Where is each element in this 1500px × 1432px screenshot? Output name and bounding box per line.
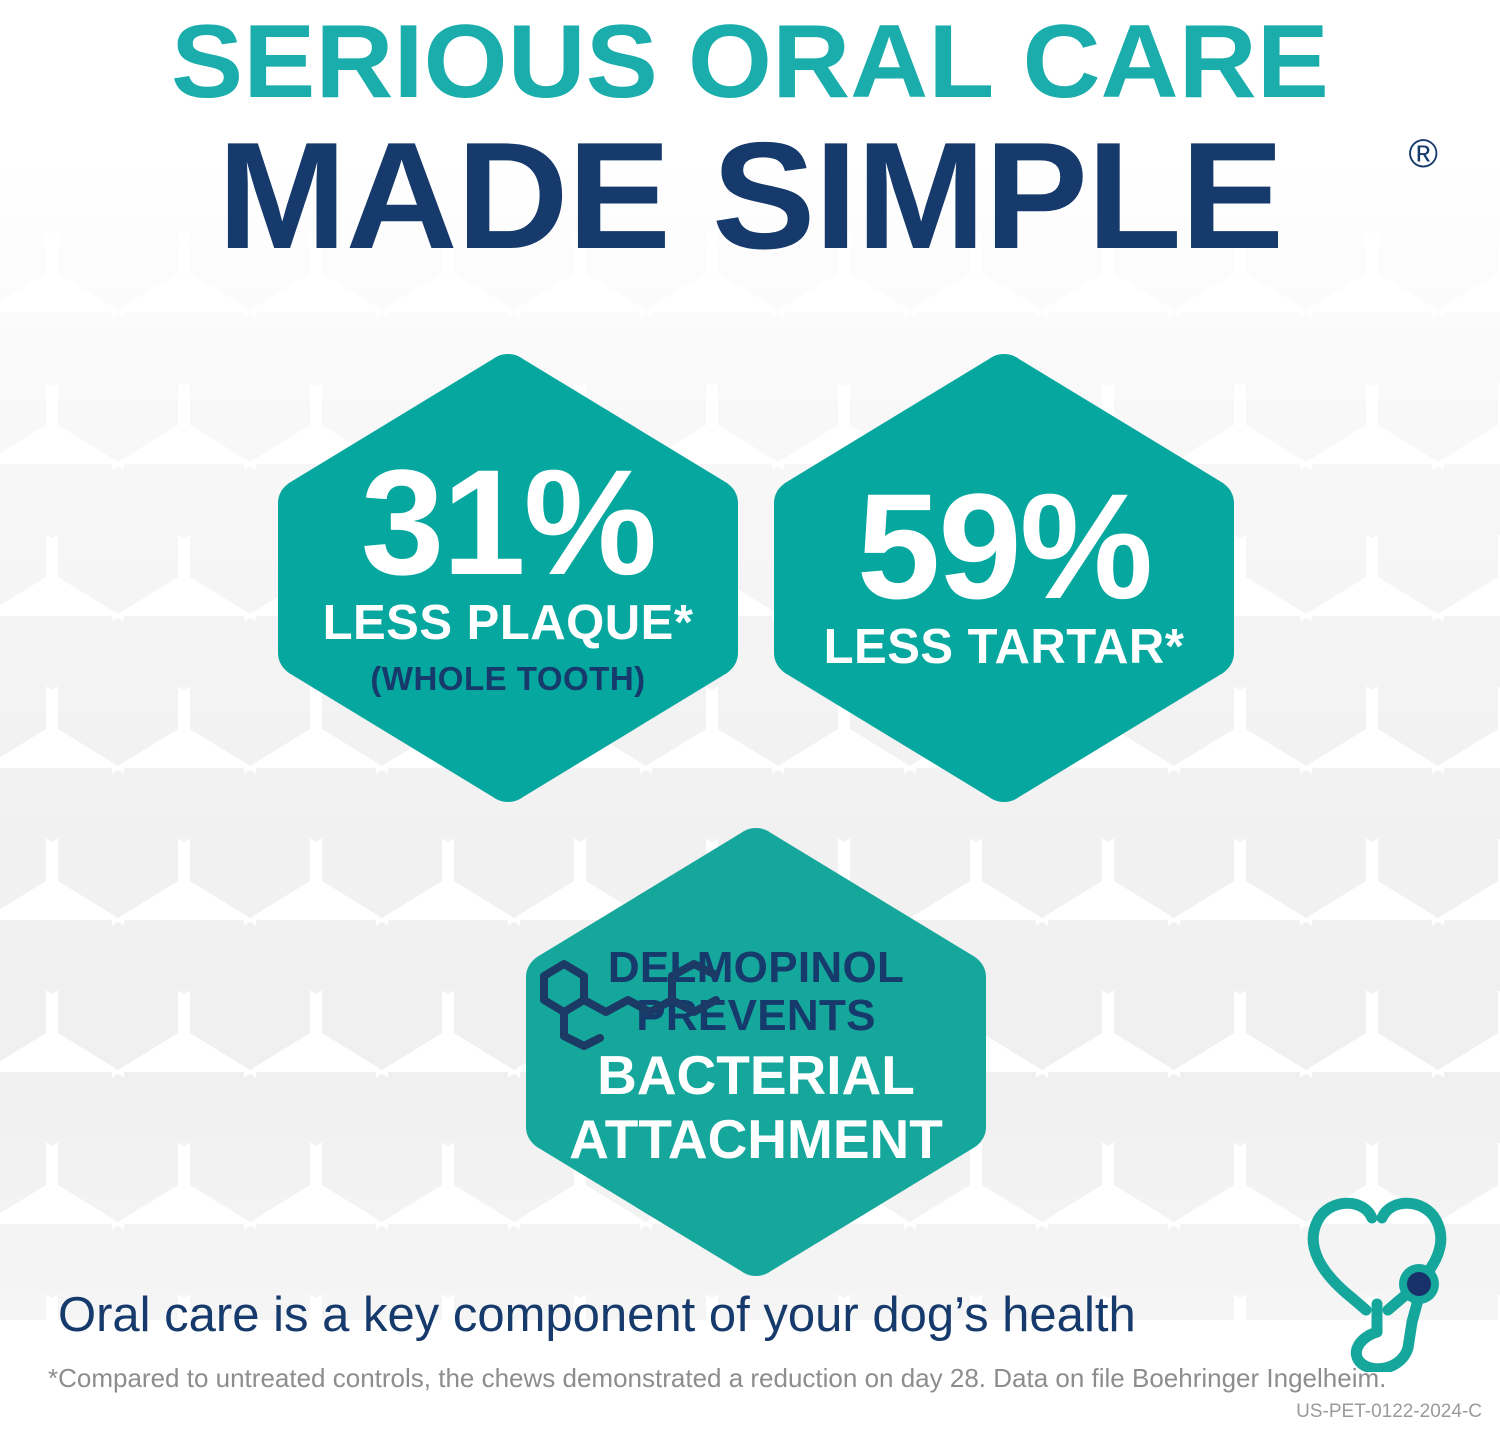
stethoscope-heart-icon [1300,1196,1460,1372]
stat-badge-delmopinol: DELMOPINOL PREVENTS BACTERIAL ATTACHMENT [520,822,992,1282]
delmopinol-molecule-icon [520,950,736,1050]
stat-number: 59% [768,481,1240,611]
headline-line-2: MADE SIMPLE [217,118,1283,274]
oral-care-infographic: SERIOUS ORAL CARE MADE SIMPLE ® 31% LESS… [0,0,1500,1432]
headline-block: SERIOUS ORAL CARE MADE SIMPLE ® [0,0,1500,274]
footer-tagline: Oral care is a key component of your dog… [58,1286,1348,1344]
badge-content: DELMOPINOL PREVENTS BACTERIAL ATTACHMENT [520,936,992,1168]
delmopinol-emph-line-2: ATTACHMENT [520,1110,992,1168]
badge-content: 59% LESS TARTAR* [768,481,1240,675]
stat-sublabel: (WHOLE TOOTH) [272,659,744,699]
stat-label: LESS TARTAR* [768,619,1240,675]
headline-line-2-wrapper: MADE SIMPLE ® [0,118,1500,274]
stat-label: LESS PLAQUE* [272,595,744,651]
delmopinol-emph-line-1: BACTERIAL [520,1046,992,1104]
stat-badge-less-plaque: 31% LESS PLAQUE* (WHOLE TOOTH) [272,348,744,808]
stethoscope-chestpiece-center [1407,1272,1431,1296]
footnote-disclaimer: *Compared to untreated controls, the che… [48,1362,1460,1394]
regulatory-code: US-PET-0122-2024-C [1296,1400,1482,1424]
stat-badge-less-tartar: 59% LESS TARTAR* [768,348,1240,808]
headline-line-1: SERIOUS ORAL CARE [0,6,1500,118]
stat-number: 31% [272,457,744,587]
registered-trademark-icon: ® [1409,132,1438,177]
badge-content: 31% LESS PLAQUE* (WHOLE TOOTH) [272,457,744,699]
